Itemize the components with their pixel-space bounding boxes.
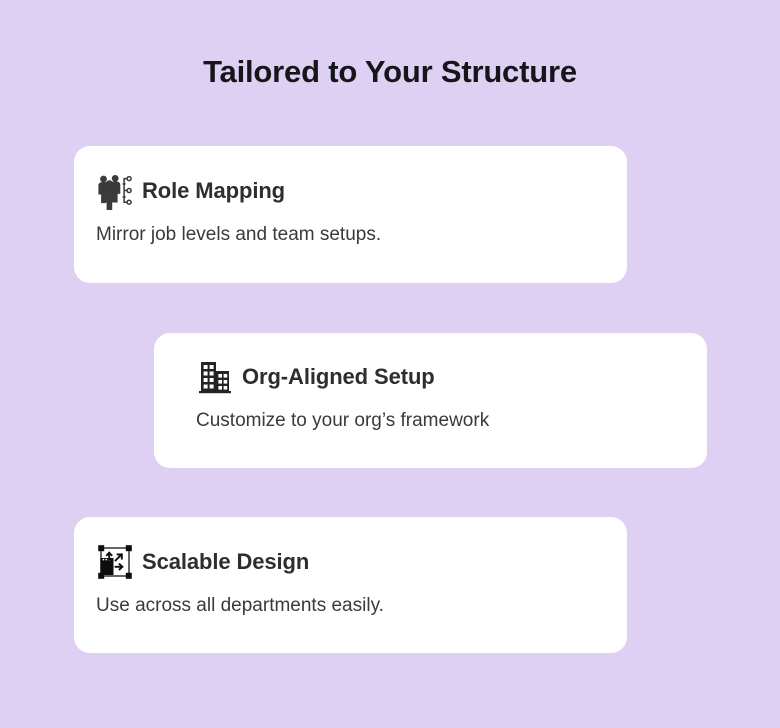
card-header: Org-Aligned Setup [196, 358, 435, 396]
card-header: Role Mapping [96, 172, 285, 210]
page-title: Tailored to Your Structure [0, 54, 780, 90]
card-title: Scalable Design [142, 549, 309, 575]
feature-card-scalable-design: Scalable Design Use across all departmen… [74, 517, 627, 653]
office-buildings-icon [196, 358, 234, 396]
card-title: Org-Aligned Setup [242, 364, 435, 390]
card-description: Customize to your org’s framework [196, 410, 489, 432]
card-title: Role Mapping [142, 178, 285, 204]
people-org-chart-icon [96, 172, 134, 210]
scale-resize-frame-icon [96, 543, 134, 581]
card-description: Use across all departments easily. [96, 595, 384, 617]
feature-card-role-mapping: Role Mapping Mirror job levels and team … [74, 146, 627, 283]
card-header: Scalable Design [96, 543, 309, 581]
card-description: Mirror job levels and team setups. [96, 224, 381, 246]
feature-card-org-aligned-setup: Org-Aligned Setup Customize to your org’… [154, 333, 707, 468]
